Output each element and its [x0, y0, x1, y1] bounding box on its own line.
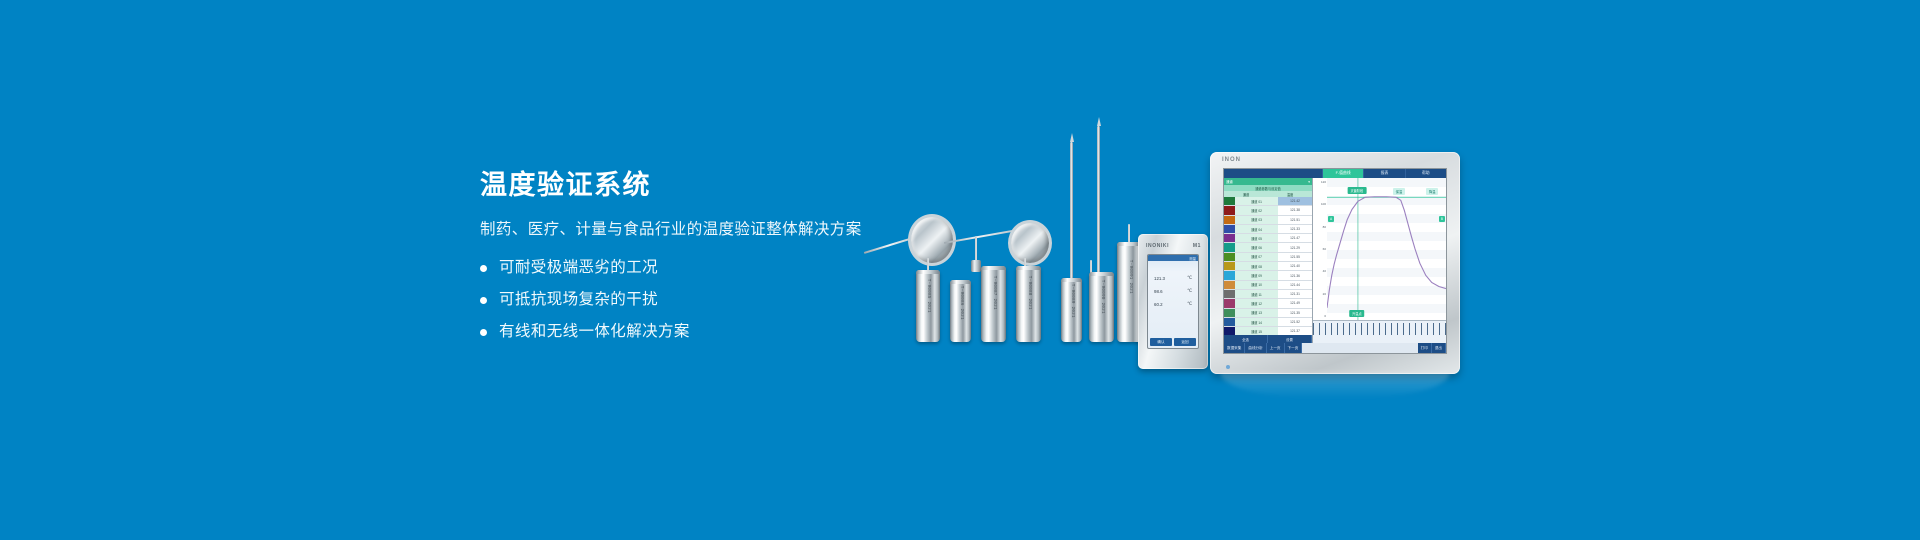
channel-name: 通道 11 [1235, 290, 1278, 298]
channel-color-swatch [1224, 271, 1235, 279]
logger-code: T-90087 2021 [991, 276, 997, 310]
handheld-confirm-button[interactable]: 确认 [1150, 338, 1172, 346]
software-window: F-值曲线 报表 帮助 通道 ▾ 通道参数与设定值 [1223, 168, 1447, 354]
handheld-brand: INONIKI M1 [1146, 243, 1201, 249]
reading-row: 60.2 ℃ [1154, 301, 1192, 307]
channel-color-swatch [1224, 299, 1235, 307]
reading-row: 98.6 ℃ [1154, 288, 1192, 294]
marker-b[interactable]: B [1439, 216, 1445, 222]
handheld-readings: 121.3 ℃ 98.6 ℃ 60.2 ℃ [1148, 261, 1198, 307]
channel-value: 121.55 [1278, 253, 1312, 261]
channel-value: 121.29 [1278, 243, 1312, 251]
table-row[interactable]: 通道 09 121.36 [1224, 271, 1312, 280]
channel-color-swatch [1224, 327, 1235, 335]
power-led-icon [1226, 365, 1230, 369]
channel-value: 121.33 [1278, 225, 1312, 233]
channel-name: 通道 09 [1235, 271, 1278, 279]
temperature-chart: 120 100 80 60 40 20 0 [1313, 178, 1446, 343]
monitor: INON F-值曲线 报表 帮助 通道 ▾ [1210, 152, 1460, 374]
table-row[interactable]: 通道 03 121.51 [1224, 216, 1312, 225]
monitor-logo: INON [1222, 157, 1241, 163]
channel-name: 通道 01 [1235, 197, 1278, 205]
channel-panel-header: 通道 ▾ [1224, 178, 1312, 185]
probe-coil-icon [1008, 220, 1052, 266]
channel-color-swatch [1224, 197, 1235, 205]
reading-unit: ℃ [1187, 275, 1192, 281]
software-body: 通道 ▾ 通道参数与设定值 通道 温度 通道 0 [1224, 178, 1446, 343]
tab-report[interactable]: 报表 [1363, 169, 1404, 178]
channel-value: 121.49 [1278, 299, 1312, 307]
reading-value: 98.6 [1154, 289, 1163, 294]
bullet-dot-icon [480, 265, 487, 272]
toolbar-spacer [1302, 343, 1417, 353]
software-toolbar: 数据采集 曲线分析 上一页 下一页 打印 退出 [1224, 343, 1446, 353]
y-tick: 100 [1321, 202, 1326, 206]
handheld-button-bar: 确认 返回 [1150, 338, 1196, 346]
table-row[interactable]: 通道 15 121.37 [1224, 327, 1312, 335]
channel-value: 121.38 [1278, 206, 1312, 214]
logger-code: T-90090 2021 [1099, 280, 1105, 314]
channel-name: 通道 08 [1235, 262, 1278, 270]
software-tabbar: F-值曲线 报表 帮助 [1224, 169, 1446, 178]
hero-banner: 温度验证系统 制药、医疗、计量与食品行业的温度验证整体解决方案 可耐受极端恶劣的… [0, 0, 1920, 540]
settings-button[interactable]: 设置 [1268, 335, 1312, 343]
table-row[interactable]: 通道 10 121.44 [1224, 281, 1312, 290]
data-logger: T-90090 2021 [1089, 272, 1114, 342]
channel-color-swatch [1224, 290, 1235, 298]
table-row[interactable]: 通道 08 121.40 [1224, 262, 1312, 271]
feature-label: 可抵抗现场复杂的干扰 [499, 290, 658, 310]
column-header-channel: 通道 [1224, 192, 1268, 197]
reading-unit: ℃ [1187, 301, 1192, 307]
chart-plot-area: 120 100 80 60 40 20 0 [1313, 178, 1446, 320]
table-row[interactable]: 通道 14 121.52 [1224, 318, 1312, 327]
table-row[interactable]: 通道 01 121.42 [1224, 197, 1312, 206]
reading-value: 60.2 [1154, 302, 1163, 307]
y-tick: 120 [1321, 180, 1326, 184]
chart-svg [1327, 178, 1446, 320]
channel-value: 121.47 [1278, 234, 1312, 242]
channel-value: 121.36 [1278, 271, 1312, 279]
y-tick: 0 [1324, 314, 1326, 318]
monitor-reflection [1220, 372, 1450, 398]
tab-help[interactable]: 帮助 [1405, 169, 1446, 178]
channel-color-swatch [1224, 281, 1235, 289]
y-tick: 40 [1323, 269, 1326, 273]
channel-panel: 通道 ▾ 通道参数与设定值 通道 温度 通道 0 [1224, 178, 1313, 343]
channel-value: 121.44 [1278, 281, 1312, 289]
chevron-down-icon[interactable]: ▾ [1308, 180, 1310, 184]
channel-name: 通道 12 [1235, 299, 1278, 307]
channel-name: 通道 02 [1235, 206, 1278, 214]
needle-probe [1070, 142, 1073, 290]
y-tick: 80 [1323, 225, 1326, 229]
bullet-dot-icon [480, 297, 487, 304]
handheld-screen[interactable]: 测量 121.3 ℃ 98.6 ℃ 60.2 ℃ [1147, 254, 1199, 349]
channel-value: 121.51 [1278, 216, 1312, 224]
data-logger: T-90085 2021 [916, 270, 940, 342]
y-tick: 60 [1323, 247, 1326, 251]
channel-name: 通道 03 [1235, 216, 1278, 224]
needle-probe [1097, 126, 1100, 294]
feature-label: 有线和无线一体化解决方案 [499, 322, 690, 342]
product-photo: T-90085 2021 T-90086 2021 T-90087 2021 T… [880, 120, 1460, 380]
channel-value: 121.40 [1278, 262, 1312, 270]
channel-value: 121.31 [1278, 290, 1312, 298]
table-row[interactable]: 通道 13 121.35 [1224, 309, 1312, 318]
cursor-top-label: 灭菌阶段 [1348, 187, 1367, 194]
channel-color-swatch [1224, 216, 1235, 224]
channel-value: 121.52 [1278, 318, 1312, 326]
phase-chip-hold: 保温 [1393, 188, 1405, 195]
channel-name: 通道 05 [1235, 234, 1278, 242]
cursor-bottom-label: 升温点 [1349, 310, 1365, 317]
logger-code: T-90088 2021 [1026, 276, 1032, 310]
y-tick: 20 [1323, 292, 1326, 296]
table-row[interactable]: 通道 07 121.55 [1224, 253, 1312, 262]
channel-color-swatch [1224, 234, 1235, 242]
channel-panel-title: 通道 [1226, 179, 1233, 184]
prev-page-button[interactable]: 上一页 [1267, 343, 1285, 353]
channel-panel-footer: 全选 设置 [1224, 335, 1312, 343]
next-page-button[interactable]: 下一页 [1285, 343, 1303, 353]
print-button[interactable]: 打印 [1418, 343, 1432, 353]
marker-a[interactable]: A [1328, 216, 1334, 222]
channel-color-swatch [1224, 206, 1235, 214]
table-row[interactable]: 通道 11 121.31 [1224, 290, 1312, 299]
handheld-back-button[interactable]: 返回 [1174, 338, 1196, 346]
data-logger: T-90086 2021 [950, 280, 971, 342]
logger-code: T-90091 2021 [1127, 260, 1133, 294]
bullet-dot-icon [480, 329, 487, 336]
channel-name: 通道 13 [1235, 309, 1278, 317]
reading-value: 121.3 [1154, 276, 1165, 281]
channel-color-swatch [1224, 262, 1235, 270]
channel-name: 通道 15 [1235, 327, 1278, 335]
reading-row: 121.3 ℃ [1154, 275, 1192, 281]
channel-color-swatch [1224, 309, 1235, 317]
channel-name: 通道 07 [1235, 253, 1278, 261]
tab-f-value-curve[interactable]: F-值曲线 [1322, 169, 1363, 178]
channel-value: 121.37 [1278, 327, 1312, 335]
data-logger: T-90087 2021 [981, 266, 1006, 342]
handheld-screen-title: 测量 [1189, 256, 1196, 261]
column-header-temp: 温度 [1268, 192, 1312, 197]
table-row[interactable]: 通道 06 121.29 [1224, 243, 1312, 252]
curve-analysis-button[interactable]: 曲线分析 [1245, 343, 1266, 353]
exit-button[interactable]: 退出 [1432, 343, 1446, 353]
channel-name: 通道 14 [1235, 318, 1278, 326]
channel-value: 121.42 [1278, 197, 1312, 205]
channel-name: 通道 04 [1235, 225, 1278, 233]
logger-code: T-90089 2021 [1069, 284, 1075, 318]
channel-color-swatch [1224, 253, 1235, 261]
channel-color-swatch [1224, 243, 1235, 251]
table-row[interactable]: 通道 02 121.38 [1224, 206, 1312, 215]
channel-color-swatch [1224, 318, 1235, 326]
handheld-reader[interactable]: INONIKI M1 测量 121.3 ℃ 98.6 ℃ [1138, 234, 1208, 369]
table-row[interactable]: 通道 04 121.33 [1224, 225, 1312, 234]
channel-name: 通道 06 [1235, 243, 1278, 251]
table-row[interactable]: 通道 12 121.49 [1224, 299, 1312, 308]
brand-name: INONIKI [1146, 243, 1169, 249]
monitor-bezel: INON F-值曲线 报表 帮助 通道 ▾ [1210, 152, 1460, 374]
chart-y-axis: 120 100 80 60 40 20 0 [1313, 178, 1327, 320]
data-acquisition-button[interactable]: 数据采集 [1224, 343, 1245, 353]
logger-code: T-90086 2021 [958, 286, 964, 320]
data-logger: T-90089 2021 [1061, 278, 1082, 342]
channel-value: 121.35 [1278, 309, 1312, 317]
reading-unit: ℃ [1187, 288, 1192, 294]
phase-chip-cool: 降温 [1426, 188, 1438, 195]
chart-x-axis [1313, 320, 1446, 343]
channel-rows: 通道 01 121.42 通道 02 121.38 [1224, 197, 1312, 335]
select-all-button[interactable]: 全选 [1224, 335, 1268, 343]
logger-code: T-90085 2021 [925, 279, 931, 313]
model-name: M1 [1193, 243, 1201, 249]
logger-cap [971, 260, 981, 272]
table-row[interactable]: 通道 05 121.47 [1224, 234, 1312, 243]
feature-label: 可耐受极端恶劣的工况 [499, 258, 658, 278]
data-logger: T-90088 2021 [1016, 266, 1041, 342]
channel-name: 通道 10 [1235, 281, 1278, 289]
channel-color-swatch [1224, 225, 1235, 233]
